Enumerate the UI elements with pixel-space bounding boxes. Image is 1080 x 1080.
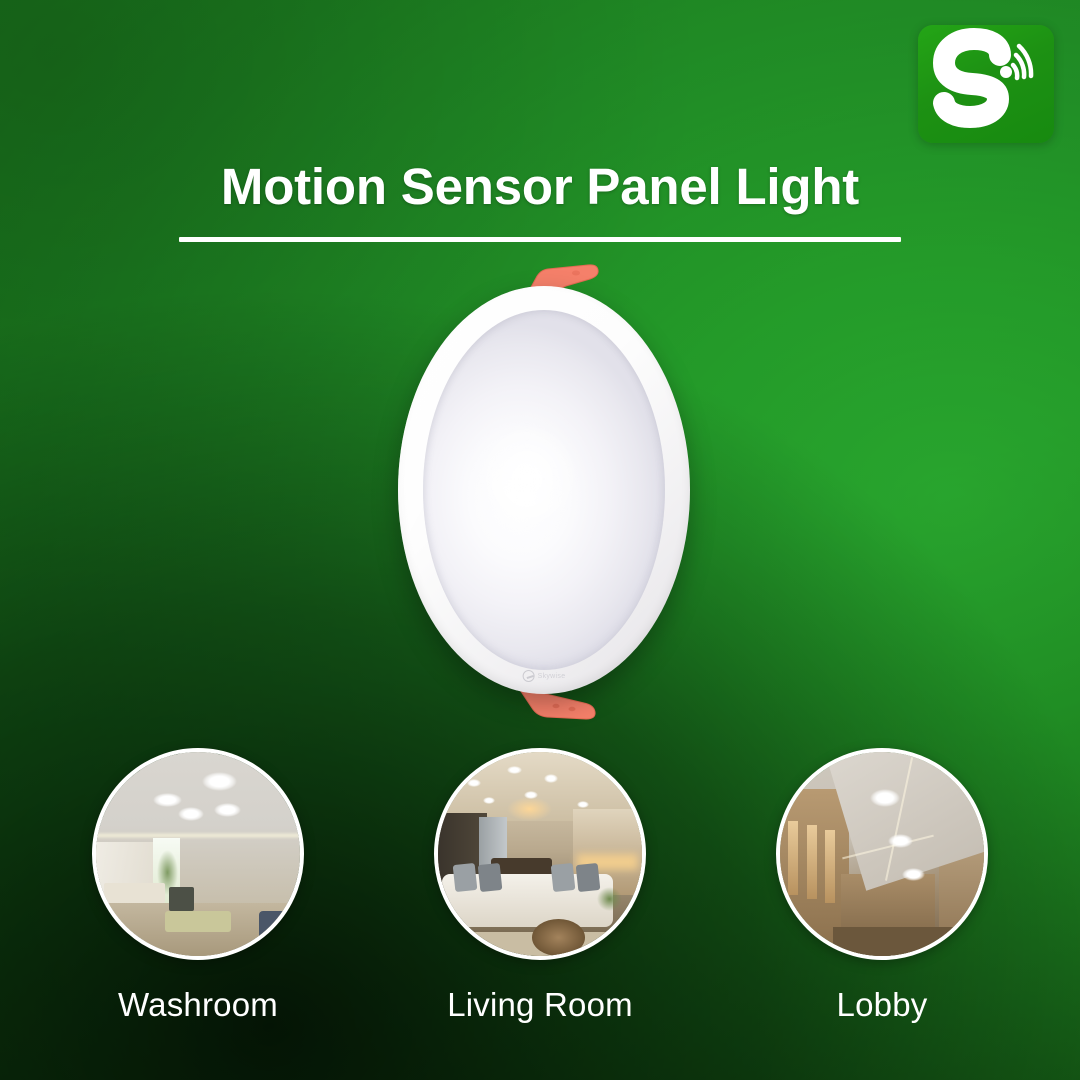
cushion (551, 863, 576, 892)
wall-panel (807, 825, 817, 898)
chair (169, 887, 193, 911)
chandelier (507, 797, 552, 821)
ceiling-downlight (902, 868, 924, 880)
ceiling-downlight (888, 834, 912, 848)
ceiling-downlight (214, 803, 241, 817)
title-block: Motion Sensor Panel Light (0, 158, 1080, 242)
wall-panel (788, 821, 798, 894)
washroom-scene (96, 752, 300, 956)
ceiling-downlight (544, 774, 558, 782)
ceiling-downlight (483, 797, 495, 804)
page-title: Motion Sensor Panel Light (0, 158, 1080, 215)
living-room-scene (438, 752, 642, 956)
title-underline-rule (179, 237, 901, 242)
room-thumbnail-lobby (776, 748, 988, 960)
cushion (477, 863, 502, 892)
room-item-washroom: Washroom (92, 748, 304, 1024)
bench (259, 911, 304, 944)
product-brand-mark: Skywise (523, 670, 566, 682)
room-label-washroom: Washroom (92, 986, 304, 1024)
coffee-table (532, 919, 585, 956)
panel-light-body: Skywise (398, 286, 690, 694)
product-brand-name: Skywise (538, 673, 566, 680)
ceiling-downlight (178, 807, 205, 821)
ceiling-downlight (153, 793, 182, 807)
room-label-living-room: Living Room (434, 986, 646, 1024)
ceiling-downlight (524, 791, 538, 799)
room-item-lobby: Lobby (776, 748, 988, 1024)
lobby-scene (780, 752, 984, 956)
brand-logo-badge (918, 25, 1054, 143)
cove-light (96, 834, 300, 837)
room-item-living-room: Living Room (434, 748, 646, 1024)
bathtub (165, 911, 230, 931)
room-thumbnail-washroom (92, 748, 304, 960)
ceiling-downlight (577, 801, 589, 808)
room-thumbnail-living-room (434, 748, 646, 960)
ceiling-downlight (202, 772, 237, 790)
wall-panel (825, 830, 835, 903)
room-label-lobby: Lobby (776, 986, 988, 1024)
panel-glow-highlight (471, 418, 582, 540)
vanity-counter (104, 883, 165, 903)
s-wifi-signal-icon (918, 25, 1054, 143)
room-applications-row: Washroom (0, 748, 1080, 1024)
panel-diffuser (423, 310, 665, 670)
brand-s-icon (523, 670, 535, 682)
plant (597, 887, 621, 911)
product-image: Skywise (340, 258, 740, 728)
ceiling-downlight (467, 779, 481, 787)
cushion (453, 863, 478, 892)
floor (833, 927, 984, 956)
